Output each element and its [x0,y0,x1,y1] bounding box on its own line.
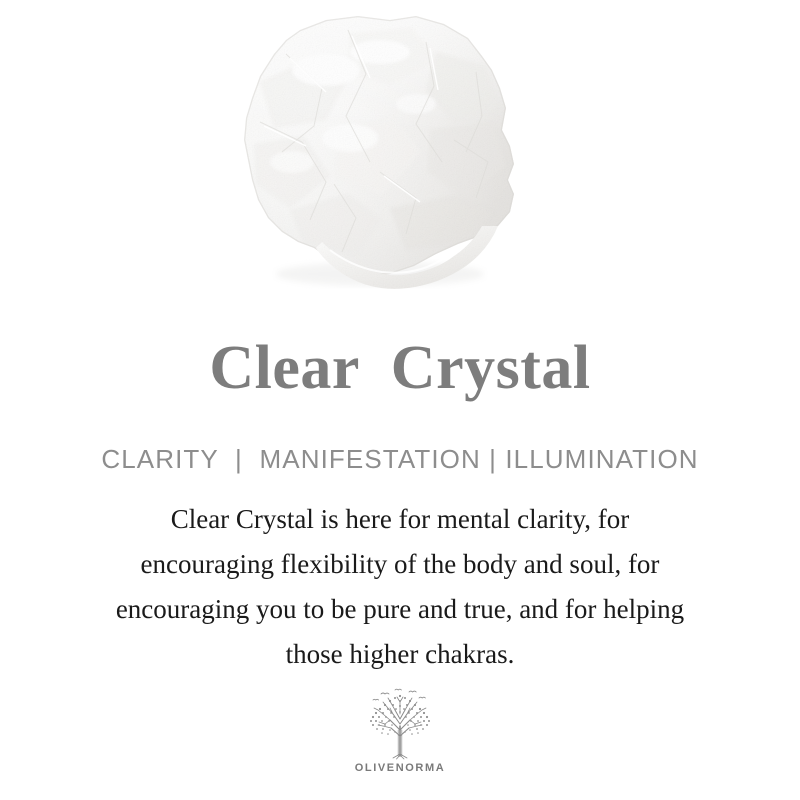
description-line: those higher chakras. [40,632,760,677]
crystal-image-container [0,0,800,320]
page-title: Clear Crystal [0,336,800,401]
description-line: Clear Crystal is here for mental clarity… [40,497,760,542]
description-line: encouraging flexibility of the body and … [40,542,760,587]
brand-logo: OLIVENORMA [0,686,800,774]
product-info-card: Clear Crystal CLARITY | MANIFESTATION | … [0,0,800,800]
clear-quartz-crystal-image [230,12,530,302]
description-line: encouraging you to be pure and true, and… [40,587,760,632]
product-description: Clear Crystal is here for mental clarity… [40,497,760,677]
product-keywords: CLARITY | MANIFESTATION | ILLUMINATION [0,444,800,475]
tree-with-birds-icon [357,686,443,760]
brand-name: OLIVENORMA [355,762,446,774]
